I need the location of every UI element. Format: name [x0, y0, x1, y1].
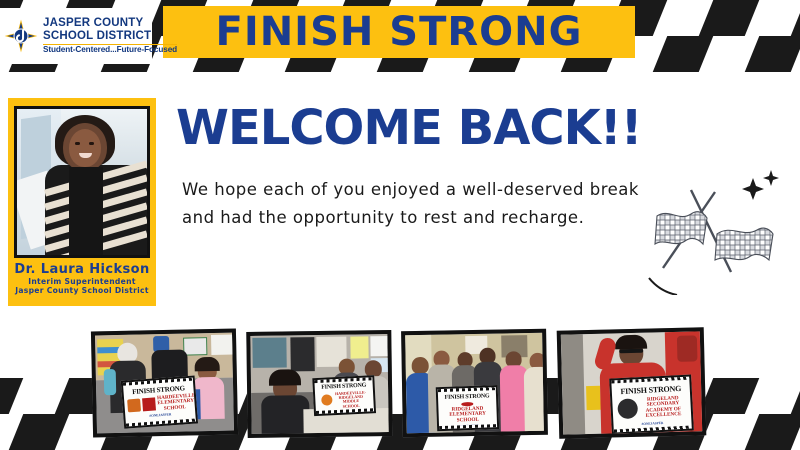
photo-sign: FINISH STRONG RIDGELAND ELEMENTARY SCHOO…: [436, 385, 499, 431]
sign-hashtag: #ONEJASPER: [641, 421, 663, 426]
sparkle-icon: [742, 170, 779, 200]
district-logo: JASPER COUNTY SCHOOL DISTRICT Student-Ce…: [0, 8, 152, 64]
logo-line-2: SCHOOL DISTRICT: [43, 31, 177, 43]
finish-strong-banner: FINISH STRONG: [163, 6, 635, 58]
sign-headline: FINISH STRONG: [620, 384, 681, 396]
list-item[interactable]: FINISH STRONG RIDGELAND ELEMENTARY SCHOO…: [401, 329, 548, 438]
list-item[interactable]: FINISH STRONG HARDEEVILLE ELEMENTARY SCH…: [91, 328, 238, 437]
sign-school: HARDEEVILLE ELEMENTARY SCHOOL: [157, 394, 192, 413]
banner-title: FINISH STRONG: [216, 12, 583, 52]
photo-sign: FINISH STRONG RIDGELAND SECONDARY ACADEM…: [609, 374, 694, 434]
page-title: WELCOME BACK!!: [176, 104, 642, 152]
flyer-canvas: JASPER COUNTY SCHOOL DISTRICT Student-Ce…: [0, 0, 800, 450]
compass-rose-icon: [4, 19, 38, 53]
sign-school: RIDGELAND SECONDARY ACADEMY OF EXCELLENC…: [640, 396, 687, 420]
sign-school: HARDEEVILLE-RIDGELAND MIDDLE SCHOOL: [333, 391, 368, 409]
logo-tagline: Student-Centered...Future-Focused: [43, 46, 177, 54]
superintendent-title: Interim Superintendent: [14, 277, 150, 286]
sign-hashtag: #ONEJASPER: [149, 413, 171, 419]
superintendent-organization: Jasper County School District: [14, 286, 150, 295]
logo-line-1: JASPER COUNTY: [43, 18, 177, 30]
district-logo-text: JASPER COUNTY SCHOOL DISTRICT Student-Ce…: [43, 18, 177, 54]
list-item[interactable]: FINISH STRONG HARDEEVILLE-RIDGELAND MIDD…: [246, 330, 392, 438]
photo-sign: FINISH STRONG HARDEEVILLE ELEMENTARY SCH…: [121, 375, 198, 428]
superintendent-photo: [14, 106, 150, 258]
sign-headline: FINISH STRONG: [444, 393, 489, 401]
superintendent-card: Dr. Laura Hickson Interim Superintendent…: [8, 98, 156, 306]
crossed-checkered-flags-icon: [645, 160, 795, 295]
superintendent-name: Dr. Laura Hickson: [14, 262, 150, 277]
message-body: We hope each of you enjoyed a well-deser…: [182, 176, 652, 233]
photo-sign: FINISH STRONG HARDEEVILLE-RIDGELAND MIDD…: [312, 375, 376, 416]
sign-school: RIDGELAND ELEMENTARY SCHOOL: [445, 406, 490, 424]
list-item[interactable]: FINISH STRONG RIDGELAND SECONDARY ACADEM…: [557, 327, 707, 439]
